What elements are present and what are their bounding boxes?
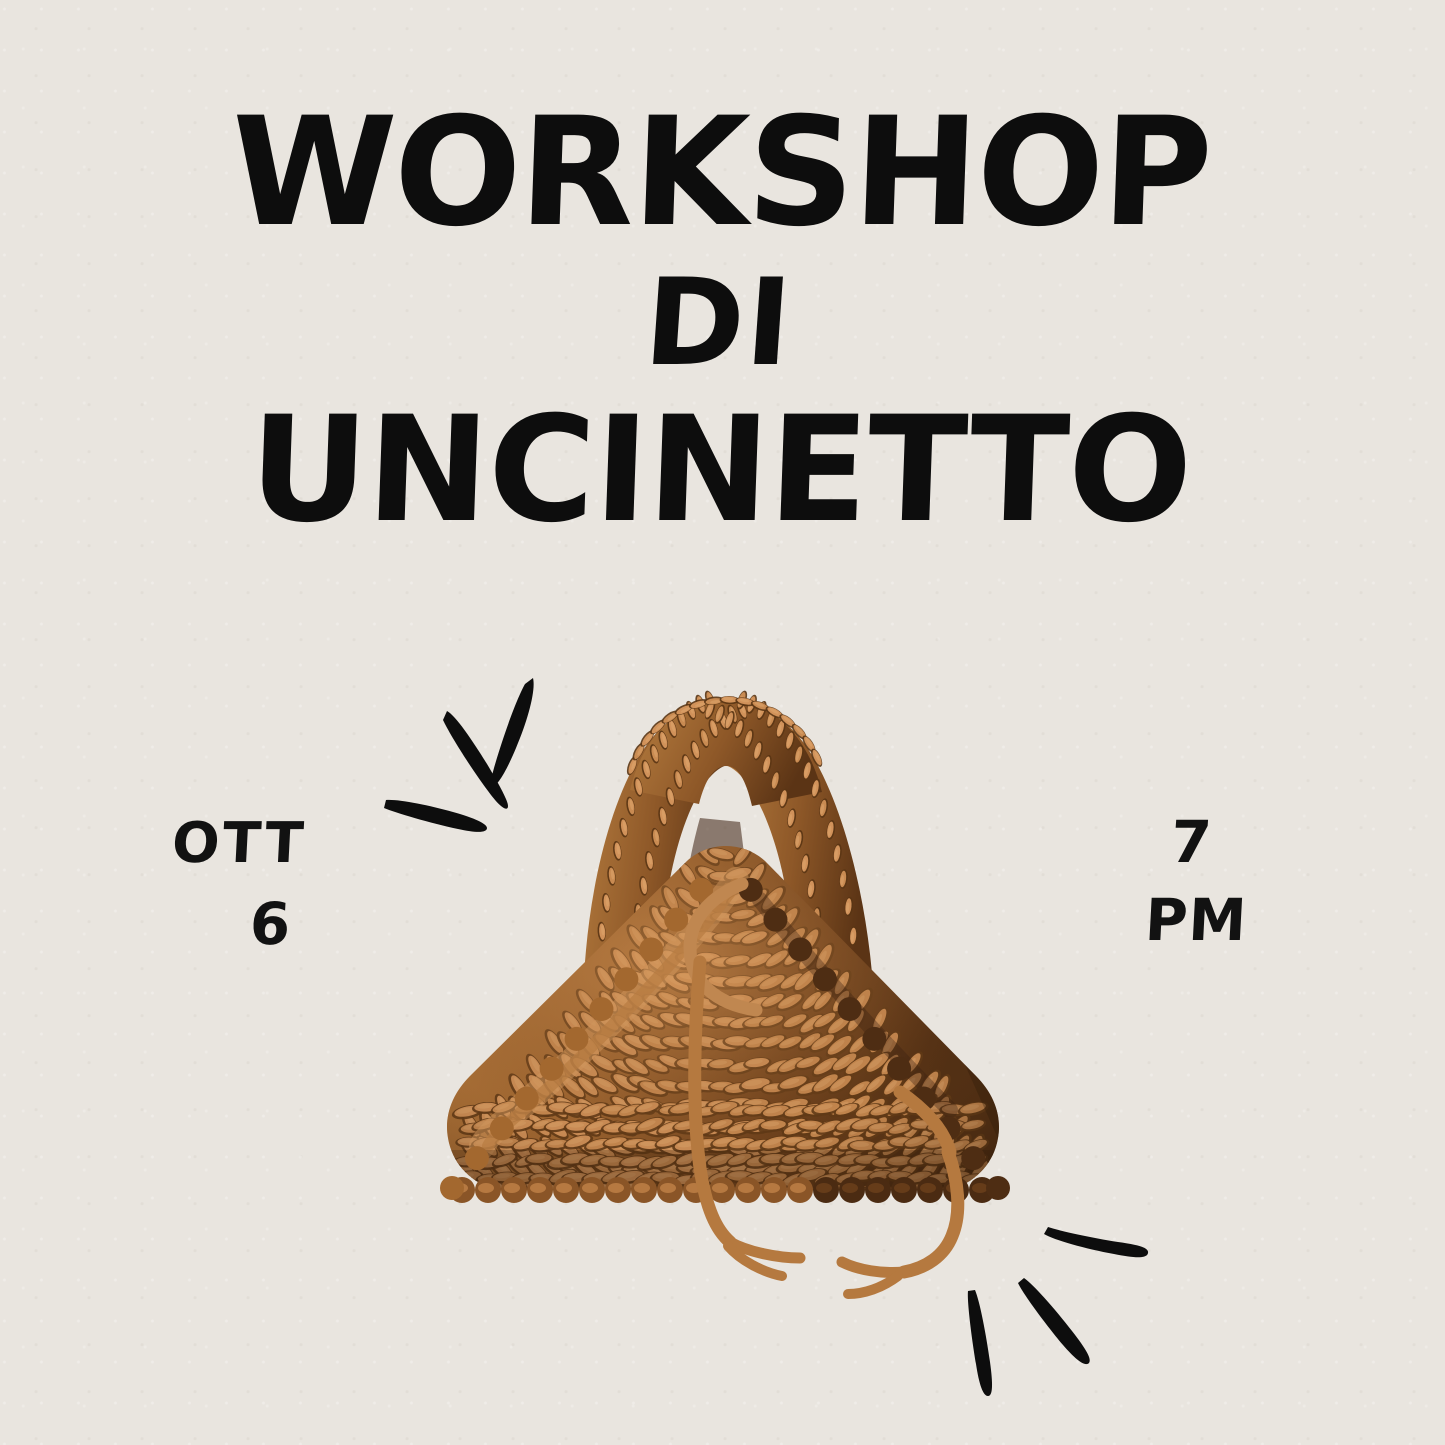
bag-tie-cord bbox=[690, 884, 958, 1294]
knit-stitch-field bbox=[420, 840, 1042, 1210]
time-meridiem: PM bbox=[1143, 886, 1249, 954]
date-month-svg: OTT bbox=[160, 812, 310, 874]
bag-fold-right bbox=[760, 900, 950, 1110]
handle-arch bbox=[630, 700, 822, 806]
cord-tail-left-fork-a bbox=[730, 1242, 800, 1258]
cord-right-entry bbox=[900, 1092, 950, 1152]
date-month: OTT bbox=[170, 811, 308, 876]
time-hour-svg: 7 bbox=[1145, 812, 1295, 874]
headline-group: WORKSHOP DI UNCINETTO bbox=[0, 96, 1445, 552]
cord-tail-right bbox=[904, 1152, 958, 1272]
time-hour: 7 bbox=[1168, 808, 1213, 876]
sparkle-group-top-left bbox=[384, 678, 534, 832]
handle-arm-left bbox=[583, 700, 730, 1034]
cord-tail-right-fork-a bbox=[842, 1262, 904, 1273]
bag-handle bbox=[583, 689, 875, 1093]
headline-line-1: WORKSHOP bbox=[0, 96, 1445, 256]
headline-line-3: UNCINETTO bbox=[0, 392, 1445, 552]
bag-vignette bbox=[430, 830, 1020, 1210]
sparkle-stroke-4 bbox=[1044, 1227, 1148, 1257]
date-block: OTT 6 bbox=[160, 812, 310, 958]
poster-canvas: WORKSHOP DI UNCINETTO OTT 6 7 PM bbox=[0, 0, 1445, 1445]
headline-line-3-text: UNCINETTO bbox=[246, 385, 1194, 555]
bag-right-shadow bbox=[860, 830, 1030, 1210]
cord-tail-left bbox=[695, 962, 730, 1242]
headline-line-2: DI bbox=[0, 260, 1445, 388]
bag-seam-ridge bbox=[482, 880, 736, 1146]
handle-braid-stitches bbox=[586, 689, 869, 1093]
headline-line-2-text: DI bbox=[640, 253, 797, 393]
sparkle-stroke-3 bbox=[384, 800, 487, 832]
bag-bottom-scallops bbox=[440, 878, 1010, 1203]
headline-line-1-text: WORKSHOP bbox=[227, 86, 1213, 260]
sparkle-stroke-6 bbox=[968, 1290, 992, 1396]
time-meridiem-svg: PM bbox=[1145, 884, 1295, 954]
sparkle-stroke-1 bbox=[491, 678, 533, 786]
handle-arm-right bbox=[722, 700, 875, 1036]
time-block: 7 PM bbox=[1145, 812, 1295, 954]
bag-body-shape bbox=[447, 846, 999, 1190]
date-day: 6 bbox=[248, 890, 292, 958]
cord-tail-left-fork-b bbox=[728, 1246, 782, 1276]
date-day-svg: 6 bbox=[160, 888, 310, 958]
cord-tail-right-fork-b bbox=[848, 1276, 898, 1294]
bag-body bbox=[420, 830, 1042, 1210]
bag-bottom-shadow bbox=[450, 1150, 1000, 1200]
sparkle-stroke-2 bbox=[443, 711, 508, 809]
cord-loop bbox=[690, 884, 756, 1010]
bag-seam-ridge-core bbox=[488, 884, 736, 1146]
sparkle-group-bottom-right bbox=[968, 1227, 1148, 1396]
handle-inner-shadow bbox=[674, 818, 756, 1040]
sparkle-stroke-5 bbox=[1018, 1278, 1090, 1364]
